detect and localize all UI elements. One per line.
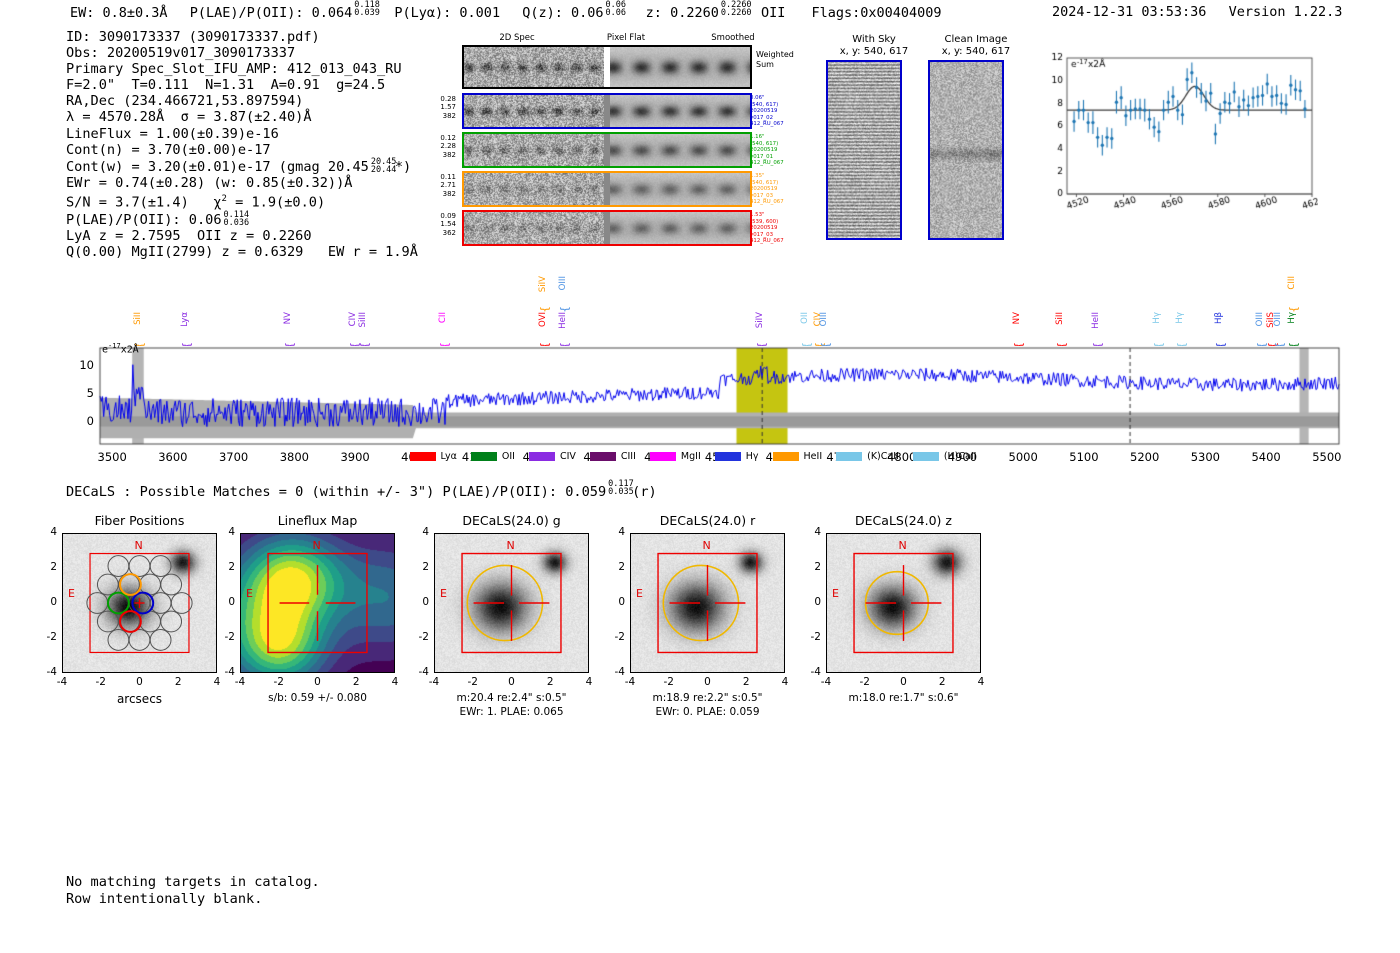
emission-line-label: SiII	[133, 312, 143, 325]
info-line: Obs: 20200519v017_3090173337	[66, 45, 418, 61]
panel-y-tick: -2	[801, 631, 821, 643]
panel-image	[62, 533, 217, 673]
fiber-row	[462, 171, 752, 207]
panel-x-label: arcsecs	[62, 692, 217, 706]
legend-label: OII	[502, 451, 515, 462]
emission-line-label: OIII	[558, 276, 568, 290]
panel-x-tick: 4	[969, 676, 993, 688]
panel-title: DECaLS(24.0) g	[412, 513, 611, 528]
emission-line-label: SiIV	[755, 312, 765, 328]
emission-line-label: CIV	[348, 312, 358, 326]
panel-x-tick: 2	[538, 676, 562, 688]
panel-caption-2: EWr: 1. PLAE: 0.065	[404, 706, 619, 718]
emission-line-label: HeII	[558, 312, 568, 329]
header-version: Version 1.22.3	[1229, 4, 1343, 20]
emission-line-label: Lyα	[180, 312, 190, 327]
panel-x-tick: -2	[461, 676, 485, 688]
emission-line-label: Hγ	[1287, 312, 1297, 324]
emission-line-label: SiIII	[358, 312, 368, 327]
legend-label: HeII	[804, 451, 823, 462]
panel-y-tick: 2	[605, 561, 625, 573]
spec2d-title-pixelflat: Pixel Flat	[571, 33, 681, 43]
info-line: RA,Dec (234.466721,53.897594)	[66, 93, 418, 109]
header-timestamp: 2024-12-31 03:53:36	[1052, 4, 1206, 20]
spec2d-title-2dspec: 2D Spec	[462, 33, 572, 43]
legend-label: CIV	[560, 451, 576, 462]
info-line: Cont(n) = 3.70(±0.00)e-17	[66, 142, 418, 158]
panel-x-tick: 4	[773, 676, 797, 688]
panel-x-tick: 0	[696, 676, 720, 688]
header-qz-label: Q(z):	[522, 5, 563, 21]
source-info-block: ID: 3090173337 (3090173337.pdf) Obs: 202…	[66, 29, 418, 260]
emission-line-label: OII	[800, 312, 810, 324]
panel-caption-1: m:18.0 re:1.7" s:0.6"	[796, 692, 1011, 704]
info-ewr: EWr = 0.74(±0.28) (w: 0.85(±0.32))Å	[66, 175, 418, 191]
compass-north: N	[899, 539, 907, 552]
panel-x-tick: 4	[577, 676, 601, 688]
compass-east: E	[832, 587, 839, 600]
legend-label: (H)CaII	[944, 451, 977, 462]
info-cont-w: Cont(w) = 3.20(±0.01)e-17 (gmag 20.4520.…	[66, 158, 418, 175]
compass-east: E	[68, 587, 75, 600]
weighted-sum-label: Weighted Sum	[756, 50, 794, 69]
full-spectrum-plot: SiII{Lyα{NV{CIV{SiIII{CII{SiIV{OVI{OIII{…	[60, 268, 1345, 468]
fiber-2dspec-image	[464, 212, 604, 244]
spectrum-y-tick: 5	[72, 386, 94, 400]
panel-image	[240, 533, 395, 673]
panel-y-tick: 2	[409, 561, 429, 573]
fiber-2dspec-image	[464, 134, 604, 166]
panel-y-tick: -2	[605, 631, 625, 643]
panel-y-tick: 2	[215, 561, 235, 573]
emission-line-label: Hγ	[1152, 312, 1162, 324]
spectrum-flux-unit: e-17x2Å	[102, 342, 139, 355]
emission-line-label: Hβ	[1214, 312, 1224, 324]
panel-title: Fiber Positions	[40, 513, 239, 528]
panel-x-tick: 0	[128, 676, 152, 688]
panel-x-tick: 0	[892, 676, 916, 688]
panel-y-tick: 0	[215, 596, 235, 608]
weighted-sum-smoothed-image	[610, 47, 750, 87]
panel-y-tick: 2	[801, 561, 821, 573]
legend-swatch	[836, 452, 862, 461]
spectrum-y-tick: 10	[72, 358, 94, 372]
fiber-right-meta: 1.16"(540, 617)20200519v017_01412_RU_067	[750, 134, 810, 167]
panel-y-tick: -4	[605, 666, 625, 678]
emission-line-label: Hγ	[1175, 312, 1185, 324]
emission-line-label: CIII	[1287, 276, 1297, 290]
info-line: ID: 3090173337 (3090173337.pdf)	[66, 29, 418, 45]
with-sky-image	[826, 60, 902, 240]
header-qz-value: 0.06	[571, 5, 604, 21]
clean-image	[928, 60, 1004, 240]
fiber-right-meta: 1.35"(540, 617)20200519v017_03412_RU_067	[750, 173, 810, 206]
compass-east: E	[246, 587, 253, 600]
compass-east: E	[636, 587, 643, 600]
fiber-smoothed-image	[610, 173, 750, 205]
emission-line-label: OIII	[1273, 312, 1283, 326]
plae-range: 0.1140.036	[222, 211, 248, 224]
legend-swatch	[773, 452, 799, 461]
panel-x-tick: -2	[853, 676, 877, 688]
fiber-right-meta: 1.53"(539, 600)20200519v017_03412_RU_067	[750, 212, 810, 245]
fiber-left-stats: 0.122.28382	[434, 134, 456, 159]
footer-note: No matching targets in catalog. Row inte…	[66, 874, 320, 908]
header-qz-range: 0.060.06	[604, 4, 630, 17]
info-mgii: Q(0.00) MgII(2799) z = 0.6329 EW r = 1.9…	[66, 244, 418, 260]
info-line: Primary Spec_Slot_IFU_AMP: 412_013_043_R…	[66, 61, 418, 77]
decals-header: DECaLS : Possible Matches = 0 (within +/…	[66, 483, 657, 500]
panel-image	[826, 533, 981, 673]
fiber-2dspec-image	[464, 95, 604, 127]
panel-x-tick: 4	[383, 676, 407, 688]
fiber-row	[462, 210, 752, 246]
emission-line-label: SiII	[1055, 312, 1065, 325]
panel-image	[434, 533, 589, 673]
panel-y-tick: -2	[215, 631, 235, 643]
header-plya: P(Lyα): 0.001	[394, 5, 500, 21]
header-summary-line: EW: 0.8±0.3Å P(LAE)/P(OII): 0.0640.1180.…	[70, 4, 942, 21]
header-meta: 2024-12-31 03:53:36 Version 1.22.3	[1052, 4, 1342, 20]
panel-title: DECaLS(24.0) z	[804, 513, 1003, 528]
legend-swatch	[471, 452, 497, 461]
panel-y-tick: -2	[37, 631, 57, 643]
panel-x-tick: 2	[166, 676, 190, 688]
cleanimage-coords: x, y: 540, 617	[942, 46, 1011, 57]
fiber-smoothed-image	[610, 212, 750, 244]
withsky-coords: x, y: 540, 617	[840, 46, 909, 57]
panel-title: Lineflux Map	[218, 513, 417, 528]
panel-y-tick: 4	[801, 526, 821, 538]
header-z-label: z:	[646, 5, 662, 21]
panel-x-tick: -2	[89, 676, 113, 688]
emission-line-label: OIII	[819, 312, 829, 326]
legend-swatch	[529, 452, 555, 461]
panel-x-tick: -2	[267, 676, 291, 688]
emission-line-label: SiIV	[538, 276, 548, 292]
decals-header-tail: (r)	[632, 484, 657, 500]
fiber-smoothed-image	[610, 134, 750, 166]
panel-y-tick: 0	[409, 596, 429, 608]
decals-header-text: DECaLS : Possible Matches = 0 (within +/…	[66, 484, 606, 500]
panel-y-tick: -4	[37, 666, 57, 678]
emission-line-label: OVI	[538, 312, 548, 327]
header-flags: Flags:0x00404009	[812, 5, 942, 21]
panel-y-tick: -4	[801, 666, 821, 678]
cleanimage-title: Clean Image	[945, 34, 1008, 45]
emission-line-legend: LyαOIICIVCIIIMgIIHγHeII(K)CaII(H)CaII	[0, 446, 1400, 465]
panel-y-tick: 0	[605, 596, 625, 608]
info-line: λ = 4570.28Å σ = 3.87(±2.40)Å	[66, 109, 418, 125]
header-ew: EW: 0.8±0.3Å	[70, 5, 168, 21]
spectrum-y-tick: 0	[72, 414, 94, 428]
panel-y-tick: 4	[409, 526, 429, 538]
panel-y-tick: 4	[37, 526, 57, 538]
header-z-species: OII	[761, 5, 785, 21]
withsky-title: With Sky	[852, 34, 896, 45]
panel-y-tick: -4	[409, 666, 429, 678]
fiber-row	[462, 93, 752, 129]
panel-y-tick: -2	[409, 631, 429, 643]
fiber-left-stats: 0.112.71382	[434, 173, 456, 198]
fiber-right-meta: 0.06"(540, 617)20200519v017_02412_RU_067	[750, 95, 810, 128]
legend-label: Lyα	[441, 451, 457, 462]
panel-y-tick: 0	[801, 596, 821, 608]
compass-north: N	[507, 539, 515, 552]
info-plae: P(LAE)/P(OII): 0.060.1140.036	[66, 211, 418, 228]
panel-x-tick: 0	[500, 676, 524, 688]
legend-swatch	[715, 452, 741, 461]
panel-x-tick: 2	[344, 676, 368, 688]
panel-image	[630, 533, 785, 673]
panel-title: DECaLS(24.0) r	[608, 513, 807, 528]
panel-x-tick: 0	[306, 676, 330, 688]
legend-label: (K)CaII	[867, 451, 899, 462]
fiber-left-stats: 0.281.57382	[434, 95, 456, 120]
info-line: F=2.0" T=0.111 N=1.31 A=0.91 g=24.5	[66, 77, 418, 93]
fiber-smoothed-image	[610, 95, 750, 127]
fiber-left-stats: 0.091.54362	[434, 212, 456, 237]
weighted-sum-2dspec-image	[464, 47, 604, 87]
legend-swatch	[913, 452, 939, 461]
spec2d-panel-group: 2D Spec Pixel Flat Smoothed Weighted Sum…	[438, 33, 798, 248]
info-line: LineFlux = 1.00(±0.39)e-16	[66, 126, 418, 142]
emission-line-label: NV	[283, 312, 293, 324]
spec2d-title-smoothed: Smoothed	[678, 33, 788, 43]
emission-line-label: HeII	[1091, 312, 1101, 329]
panel-y-tick: 0	[37, 596, 57, 608]
emission-line-label: CII	[438, 312, 448, 323]
emission-line-label: OIII	[1255, 312, 1265, 326]
panel-y-tick: 4	[605, 526, 625, 538]
legend-swatch	[650, 452, 676, 461]
emission-line-label: NV	[1012, 312, 1022, 324]
legend-label: Hγ	[746, 451, 759, 462]
panel-x-tick: 2	[734, 676, 758, 688]
footer-line-2: Row intentionally blank.	[66, 891, 320, 908]
compass-north: N	[313, 539, 321, 552]
panel-x-tick: -2	[657, 676, 681, 688]
fiber-row	[462, 132, 752, 168]
panel-caption-1: m:18.9 re:2.2" s:0.5"	[600, 692, 815, 704]
gmag-range: 20.4520.44	[369, 158, 395, 171]
panel-caption-1: m:20.4 re:2.4" s:0.5"	[404, 692, 619, 704]
legend-label: MgII	[681, 451, 701, 462]
header-plae-label: P(LAE)/P(OII):	[190, 5, 304, 21]
legend-swatch	[410, 452, 436, 461]
decals-plae-range: 0.1170.035	[606, 483, 632, 496]
compass-north: N	[703, 539, 711, 552]
panel-x-tick: 2	[930, 676, 954, 688]
header-plae-range: 0.1180.039	[352, 4, 378, 17]
panel-caption-2: EWr: 0. PLAE: 0.059	[600, 706, 815, 718]
panel-y-tick: 2	[37, 561, 57, 573]
legend-label: CIII	[621, 451, 636, 462]
panel-y-tick: -4	[215, 666, 235, 678]
compass-north: N	[135, 539, 143, 552]
header-z-range: 0.22600.2260	[719, 4, 753, 17]
header-plae-value: 0.064	[312, 5, 353, 21]
footer-line-1: No matching targets in catalog.	[66, 874, 320, 891]
compass-east: E	[440, 587, 447, 600]
legend-swatch	[590, 452, 616, 461]
line-fit-plot	[1035, 50, 1318, 220]
panel-y-tick: 4	[215, 526, 235, 538]
header-z-value: 0.2260	[670, 5, 719, 21]
panel-caption-1: s/b: 0.59 +/- 0.080	[210, 692, 425, 704]
fiber-2dspec-image	[464, 173, 604, 205]
spec2d-weighted-sum-row	[462, 45, 752, 89]
